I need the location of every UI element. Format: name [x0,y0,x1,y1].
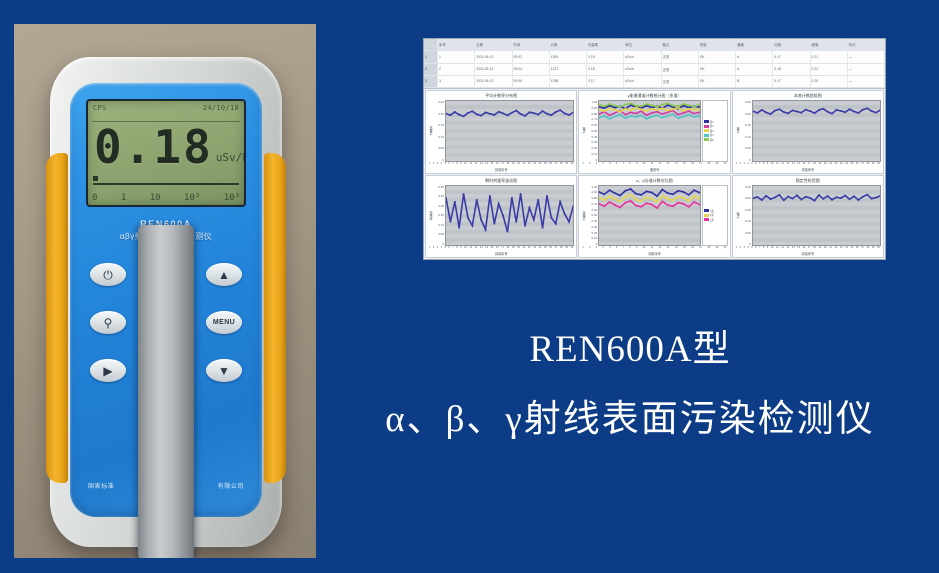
table-cell: 0.18 [587,51,624,62]
chart-data-point [630,110,631,112]
chart-data-point [857,199,859,201]
y-tick-label: 0.30 [587,225,597,229]
chart-data-point [446,197,447,199]
chart-body: 计数率0.250.200.150.100.050 [428,100,574,162]
chart-data-point [678,189,679,191]
chart-card[interactable]: 稳定性检验图计数0.250.200.150.100.05012345678910… [732,175,884,259]
chart-series-line [446,110,573,116]
chart-data-point [537,199,539,201]
y-axis-label: 计数率 [428,100,434,162]
slide-root: CPS 24/10/18 0.18 uSv/h 0 1 10 [0,0,939,573]
chart-data-point [463,193,465,195]
y-tick-label: 0.90 [587,190,597,194]
y-tick-label: 0.50 [587,129,597,133]
chart-data-point [636,204,637,206]
backlight-button[interactable]: ⚲ [90,311,126,334]
y-tick-label: 0.60 [587,123,597,127]
chart-data-point [614,192,615,194]
table-row[interactable]: 2 2 2011-05-12 09:04 1271 0.18 uSv/h 正常 … [424,64,885,76]
chart-data-point [507,230,509,232]
table-cell: 0.21 [811,51,848,62]
chart-data-point [614,204,615,206]
legend-item: 道2 [704,124,726,128]
legend-swatch [704,129,709,132]
chevron-down-icon: ▼ [218,365,230,377]
chart-data-point [599,104,600,106]
table-row[interactable]: 1 1 2011-05-12 09:02 1264 0.18 uSv/h 正常 … [424,51,885,63]
chart-legend: 道1道2道3道4道5 [702,100,728,162]
chart-data-point [620,111,621,113]
chart-data-point [866,193,868,195]
chart-title: 稳定性检验图 [735,178,881,185]
chart-data-point [609,103,610,105]
chart-data-point [493,114,495,116]
chart-data-point [458,226,460,228]
chart-data-point [699,197,700,199]
y-tick-label: 0.05 [741,231,751,235]
chart-data-point [835,196,837,198]
chart-card[interactable]: 平均计数率分布图计数率0.250.200.150.100.05012345678… [425,90,577,174]
chart-data-point [550,114,552,116]
legend-swatch [704,138,709,141]
chart-data-point [646,118,647,120]
chart-data-point [636,198,637,200]
y-tick-label: 0.10 [741,219,751,223]
chart-data-point [673,205,674,207]
chart-data-point [667,192,668,194]
chart-data-point [651,112,652,114]
chart-data-point [778,194,780,196]
chart-data-point [673,108,674,110]
legend-label: β道 [710,213,714,217]
side-grip-left [46,153,68,483]
chart-data-point [651,108,652,110]
up-button[interactable]: ▲ [206,263,242,286]
chart-data-point [662,200,663,202]
lcd-status-right: 24/10/18 [203,104,239,112]
play-icon: ▶ [103,365,112,377]
chart-data-point [678,117,679,119]
chart-data-point [524,224,526,226]
chart-data-point [657,109,658,111]
y-tick-label: 0.20 [587,231,597,235]
chart-data-point [454,111,456,113]
chart-data-point [630,111,631,113]
chart-data-point [450,220,452,222]
chart-data-point [636,116,637,118]
y-tick-label: 0.40 [587,219,597,223]
chart-data-point [667,103,668,105]
table-cell: uSv/h [624,76,661,87]
chart-data-point [688,200,689,202]
chart-card[interactable]: 瞬时剂量率波动图剂量率0.300.250.200.150.100.0501234… [425,175,577,259]
chart-series-line [599,188,699,195]
table-cell: 0.22 [811,64,848,75]
y-tick-label: 0.25 [434,100,444,104]
chart-data-point [688,104,689,106]
chart-data-point [688,205,689,207]
y-axis-label: 计数率 [581,185,587,247]
chart-data-point [753,110,754,112]
legend-label: 道5 [710,138,714,142]
chart-svg [753,101,880,161]
table-cell: A [736,64,773,75]
chart-data-point [471,110,473,112]
chart-data-point [694,116,695,118]
chart-data-point [493,222,495,224]
chart-series-line [599,194,699,201]
x-axis-label: 测量序号 [428,251,574,256]
hand-strap [138,225,194,558]
chart-data-point [620,106,621,108]
chart-data-point [840,197,842,199]
y-axis-ticks: 1.000.900.800.700.600.500.400.300.200.10… [587,185,598,247]
power-icon: ⏻ [103,269,113,281]
chart-data-point [641,108,642,110]
table-cell: 2011-05-12 [475,64,512,75]
chart-data-point [520,113,522,115]
chart-data-point [463,116,465,118]
chart-data-point [866,107,868,109]
table-cell: 1271 [550,64,587,75]
chart-data-point [599,108,600,110]
chart-data-point [809,110,811,112]
lcd-unit: uSv/h [216,151,246,164]
y-tick-label: 0.40 [587,135,597,139]
x-axis-label: 测量序号 [735,251,881,256]
chart-card[interactable]: α、β分道计数对比图计数率1.000.900.800.700.600.500.4… [578,175,730,259]
chart-data-point [480,115,482,117]
chart-data-point [765,195,767,197]
row-index: 2 [424,64,438,75]
y-tick-label: 0.25 [741,100,751,104]
page-title: REN600A型 [330,318,930,372]
chart-data-point [458,114,460,116]
chart-data-point [694,109,695,111]
y-tick-label: 0.30 [587,140,597,144]
chart-data-point [524,115,526,117]
chart-data-point [662,107,663,109]
legend-item: β道 [704,213,726,217]
chart-data-point [853,195,855,197]
chart-data-point [826,195,828,197]
chart-data-point [673,199,674,201]
table-cell: uSv/h [624,64,661,75]
chart-data-point [783,199,785,201]
chart-data-point [609,114,610,116]
chart-data-point [667,110,668,112]
chart-data-point [800,198,802,200]
chart-data-point [572,204,573,206]
chart-data-point [699,104,700,106]
down-button[interactable]: ▼ [206,359,242,382]
chart-data-point [636,192,637,194]
chart-data-point [646,114,647,116]
chart-data-point [683,110,684,112]
y-axis-ticks: 0.300.250.200.150.100.050 [434,185,445,247]
y-tick-label: 0.20 [741,112,751,116]
chart-data-point [804,109,806,111]
chart-series-line [599,108,699,112]
play-button[interactable]: ▶ [90,359,126,382]
y-tick-label: 1.00 [587,100,597,104]
y-tick-label: 0.80 [587,112,597,116]
chart-data-point [667,198,668,200]
chart-data-point [604,106,605,108]
chart-data-point [657,207,658,209]
y-tick-label: 0.60 [587,208,597,212]
table-cell: 3 [438,76,475,87]
chart-data-point [765,112,767,114]
chart-data-point [636,113,637,115]
chart-data-point [662,104,663,106]
chart-data-point [787,113,789,115]
chart-data-point [796,194,798,196]
chart-data-point [657,111,658,113]
chart-data-point [559,109,561,111]
chart-data-point [542,110,544,112]
chart-card[interactable]: γ能谱通道计数统计图（多道）计数1.000.900.800.700.600.50… [578,90,730,174]
chart-data-point [662,113,663,115]
y-tick-label: 0.05 [434,232,444,236]
chart-data-point [822,108,824,110]
y-tick-label: 0.25 [434,194,444,198]
chart-data-point [529,206,531,208]
chart-data-point [467,216,469,218]
chart-data-point [662,117,663,119]
chart-data-point [609,118,610,120]
footer-right-text: 有限公司 [218,481,244,490]
survey-meter-device: CPS 24/10/18 0.18 uSv/h 0 1 10 [50,57,282,547]
y-tick-label: 0.15 [741,208,751,212]
lcd-value: 0.18 [94,124,213,170]
table-cell: 1 [438,51,475,62]
chart-data-point [641,200,642,202]
chart-data-point [641,194,642,196]
chart-data-point [683,197,684,199]
table-column-header: 备注 [662,39,699,50]
chart-data-point [848,198,850,200]
chart-data-point [511,112,513,114]
table-cell: 0.17 [587,76,624,87]
table-column-header: 标记 [848,39,885,50]
chart-data-point [641,106,642,108]
chart-data-point [614,105,615,107]
chart-data-point [625,108,626,110]
chart-data-point [614,112,615,114]
chart-data-point [646,196,647,198]
table-column-header: 日期 [475,39,512,50]
chart-data-point [694,106,695,108]
chart-data-point [769,113,771,115]
chart-data-point [604,199,605,201]
y-tick-label: 0.05 [741,146,751,150]
chart-data-point [683,105,684,107]
table-cell: 09:04 [513,64,550,75]
chart-data-point [498,203,500,205]
chart-data-point [609,195,610,197]
chart-data-point [778,108,780,110]
chart-data-point [564,212,566,214]
chart-data-point [694,195,695,197]
chart-data-point [791,197,793,199]
chart-data-point [471,224,473,226]
chart-body: 计数1.000.900.800.700.600.500.400.300.200.… [581,100,727,162]
chart-data-point [641,110,642,112]
lcd-status-left: CPS [93,104,107,112]
chart-data-point [480,218,482,220]
chart-data-point [761,109,763,111]
legend-swatch [704,214,709,217]
chart-data-point [809,197,811,199]
chart-data-point [446,113,447,115]
footer-left-text: 国家标准 [88,481,114,490]
lcd-bargraph-fill [93,176,98,181]
chart-data-point [831,113,833,115]
chart-data-point [636,107,637,109]
chart-data-point [529,111,531,113]
chart-data-point [673,193,674,195]
plot-area [445,185,574,247]
chart-data-point [826,111,828,113]
chart-card[interactable]: 本底计数趋势图计数0.250.200.150.100.0501234567891… [732,90,884,174]
chart-data-point [678,114,679,116]
chart-data-point [614,116,615,118]
legend-item: γ道 [704,218,726,222]
chart-data-point [476,199,478,201]
chart-data-point [831,198,833,200]
software-dashboard-screenshot: 序号 日期 时间 计数 剂量率 单位 备注 校验 通道 均值 峰值 标记 1 1… [423,38,886,260]
chart-data-point [761,199,763,201]
chart-data-point [699,203,700,205]
table-column-header: 通道 [736,39,773,50]
chart-data-point [678,195,679,197]
chart-data-point [756,196,758,198]
table-cell: 0.18 [587,64,624,75]
chart-data-point [511,197,513,199]
chart-data-point [502,214,504,216]
chart-data-point [609,189,610,191]
chart-data-point [699,111,700,113]
chart-data-point [667,115,668,117]
legend-label: 道1 [710,120,714,124]
chart-data-point [862,109,864,111]
chart-data-point [818,109,820,111]
table-cell: 0.20 [811,76,848,87]
legend-swatch [704,134,709,137]
power-button[interactable]: ⏻ [90,263,126,286]
chart-data-point [769,198,771,200]
chart-data-point [604,115,605,117]
menu-button[interactable]: MENU [206,311,242,334]
table-cell: 正常 [662,64,699,75]
chart-data-point [683,191,684,193]
chart-data-point [537,114,539,116]
legend-item: α道 [704,209,726,213]
y-axis-ticks: 0.250.200.150.100.050 [741,185,752,247]
table-cell: 09:02 [513,51,550,62]
chart-series-line [753,108,880,114]
chart-data-point [568,220,570,222]
chart-data-point [657,106,658,108]
chart-data-point [796,111,798,113]
table-cell: 0.17 [773,76,810,87]
table-column-header: 峰值 [811,39,848,50]
chart-data-point [630,103,631,105]
chart-data-point [662,194,663,196]
chart-data-point [450,114,452,116]
chart-data-point [688,194,689,196]
table-cell: 1264 [550,51,587,62]
chart-data-point [550,216,552,218]
chart-data-point [599,203,600,205]
chart-data-point [646,110,647,112]
chart-data-point [699,106,700,108]
chart-data-point [651,191,652,193]
chart-data-point [848,108,850,110]
chart-data-point [555,111,557,113]
table-cell: — [848,64,885,75]
chart-data-point [683,103,684,105]
y-axis-label: 剂量率 [428,185,434,247]
chart-data-point [870,197,872,199]
table-cell: 2 [438,64,475,75]
table-header-row: 序号 日期 时间 计数 剂量率 单位 备注 校验 通道 均值 峰值 标记 [424,39,885,51]
lcd-scale: 0 1 10 10² 10³ [92,193,240,203]
chart-data-point [800,112,802,114]
chart-data-point [813,112,815,114]
table-row[interactable]: 3 3 2011-05-12 09:06 1258 0.17 uSv/h 正常 … [424,76,885,88]
chart-data-point [515,110,517,112]
legend-label: 道4 [710,133,714,137]
table-cell: 2011-05-12 [475,76,512,87]
legend-label: γ道 [710,218,714,222]
chart-data-point [609,201,610,203]
chart-data-point [791,110,793,112]
chart-data-point [688,110,689,112]
chart-data-point [774,196,776,198]
chart-data-point [870,110,872,112]
plot-area [445,100,574,162]
chart-data-point [699,108,700,110]
chart-data-point [533,112,535,114]
table-column-header: 序号 [438,39,475,50]
chart-data-point [599,117,600,119]
chart-data-point [651,104,652,106]
lcd-bargraph [93,178,239,185]
y-tick-label: 0.10 [587,152,597,156]
chart-data-point [667,111,668,113]
chart-data-point [625,201,626,203]
chart-body: 计数0.250.200.150.100.050 [735,185,881,247]
y-tick-label: 0.10 [741,135,751,139]
table-cell: — [848,76,885,87]
chart-data-point [694,189,695,191]
chart-data-point [604,107,605,109]
table-cell: B [736,76,773,87]
chart-title: 平均计数率分布图 [428,93,574,100]
chart-data-point [620,200,621,202]
chart-data-point [625,189,626,191]
chart-data-point [546,113,548,115]
chart-data-point [614,107,615,109]
chart-data-point [485,112,487,114]
legend-item: 道1 [704,120,726,124]
y-tick-label: 0.70 [587,202,597,206]
table-cell: 2011-05-12 [475,51,512,62]
key-icon: ⚲ [104,317,113,329]
chart-data-point [620,194,621,196]
